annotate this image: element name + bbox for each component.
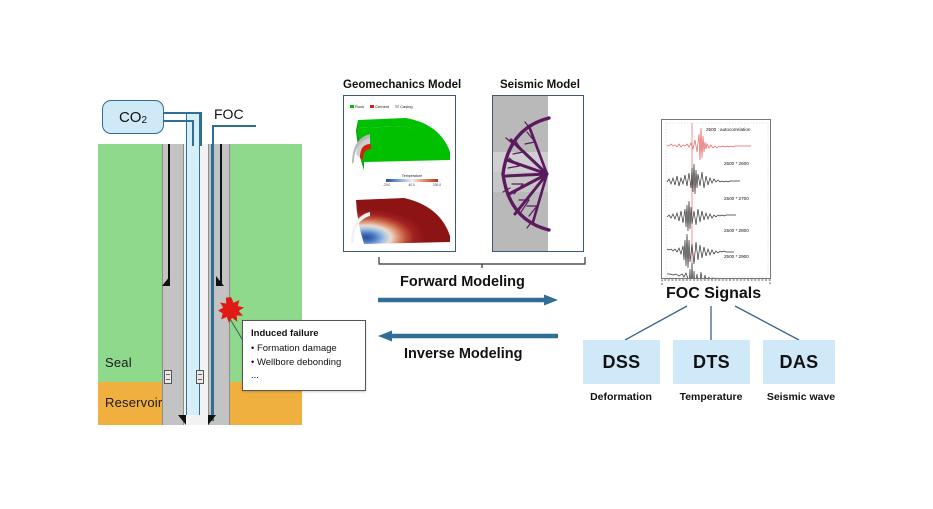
casing-right-shoe <box>216 276 224 286</box>
legend-swatch-cement <box>370 105 374 109</box>
legend-entry-rock: Rock <box>350 104 364 109</box>
induced-failure-callout: Induced failure Formation damage Wellbor… <box>242 320 366 391</box>
tubing-shoe-right <box>208 415 216 425</box>
packer-left <box>164 370 172 384</box>
foc-signals-connectors <box>583 304 843 344</box>
co2-source-box[interactable]: CO2 <box>102 100 164 134</box>
co2-pipe-riser-inner <box>192 120 194 146</box>
dts-box[interactable]: DTS <box>673 340 750 384</box>
trace-label-4: 2500 * 2900 <box>724 254 749 259</box>
trace-label-2: 2500 * 2700 <box>724 196 749 201</box>
diagram-canvas: CO2 FOC Seal Reservoir Induced failure F… <box>0 0 933 509</box>
temperature-colorbar: Temperature -20.0 40.0 100.0 <box>380 174 444 187</box>
das-caption: Seismic wave <box>711 391 891 403</box>
legend-label-casing: Casing <box>400 104 412 109</box>
colorbar-ticks: -20.0 40.0 100.0 <box>383 183 441 187</box>
casing-left-shoe <box>162 276 170 286</box>
forward-modeling-arrow <box>378 294 558 306</box>
trace-label-0: 2500 : autocorrelation <box>706 127 750 132</box>
casing-right-liner <box>220 144 222 284</box>
foc-fiber-strand <box>211 144 214 421</box>
inverse-modeling-arrow <box>378 330 558 342</box>
foc-lead-horizontal <box>212 125 256 127</box>
foc-signal-traces-panel: 2500 : autocorrelation 2500 * 2600 2500 … <box>661 119 771 279</box>
seismogram-plot <box>662 120 771 279</box>
casing-left <box>162 144 184 382</box>
seismic-model-title: Seismic Model <box>500 79 580 91</box>
co2-subscript: 2 <box>141 115 147 126</box>
legend-swatch-casing <box>395 105 399 109</box>
callout-ellipsis: ... <box>251 369 358 383</box>
geomechanics-legend: Rock Cement Casing <box>350 104 413 109</box>
callout-title: Induced failure <box>251 327 358 341</box>
packer-right <box>196 370 204 384</box>
dss-caption: Deformation <box>571 391 671 403</box>
legend-entry-cement: Cement <box>370 104 389 109</box>
inverse-modeling-label: Inverse Modeling <box>404 346 522 362</box>
forward-modeling-label: Forward Modeling <box>400 274 525 290</box>
geomechanics-model-panel: Rock Cement Casing Temperature <box>343 95 456 252</box>
list-item: Wellbore debonding <box>251 356 358 370</box>
tubing-shoe-left <box>178 415 186 425</box>
seismic-model-panel <box>492 95 584 252</box>
dss-box[interactable]: DSS <box>583 340 660 384</box>
colorbar-title: Temperature <box>380 174 444 178</box>
wellbore-schematic: CO2 FOC Seal Reservoir Induced failure F… <box>98 100 310 430</box>
foc-lead-vertical <box>212 125 214 145</box>
casing-left-liner <box>168 144 170 284</box>
temperature-wedge-3d <box>348 196 454 248</box>
foc-label: FOC <box>214 106 244 122</box>
colorbar-tick-max: 100.0 <box>433 183 441 187</box>
co2-label: CO <box>119 109 142 126</box>
fracture-network <box>493 96 584 252</box>
seal-label: Seal <box>105 355 132 370</box>
das-box[interactable]: DAS <box>763 340 835 384</box>
list-item: Formation damage <box>251 342 358 356</box>
colorbar-tick-mid: 40.0 <box>409 183 415 187</box>
colorbar-tick-min: -20.0 <box>383 183 390 187</box>
co2-pipe-top <box>164 112 202 114</box>
colorbar-gradient <box>386 179 438 182</box>
co2-pipe-bottom <box>164 120 194 122</box>
geomechanics-model-title: Geomechanics Model <box>343 79 461 91</box>
legend-label-rock: Rock <box>355 104 364 109</box>
callout-list: Formation damage Wellbore debonding <box>251 342 358 370</box>
models-group-bracket <box>378 256 586 268</box>
rock-wedge-3d <box>348 114 454 172</box>
co2-pipe-riser-outer <box>200 112 202 146</box>
legend-label-cement: Cement <box>375 104 389 109</box>
foc-signals-title: FOC Signals <box>666 285 761 303</box>
reservoir-label: Reservoir <box>105 395 162 410</box>
legend-entry-casing: Casing <box>395 104 412 109</box>
trace-label-1: 2500 * 2600 <box>724 161 749 166</box>
trace-label-3: 2500 * 2800 <box>724 228 749 233</box>
legend-swatch-rock <box>350 105 354 109</box>
